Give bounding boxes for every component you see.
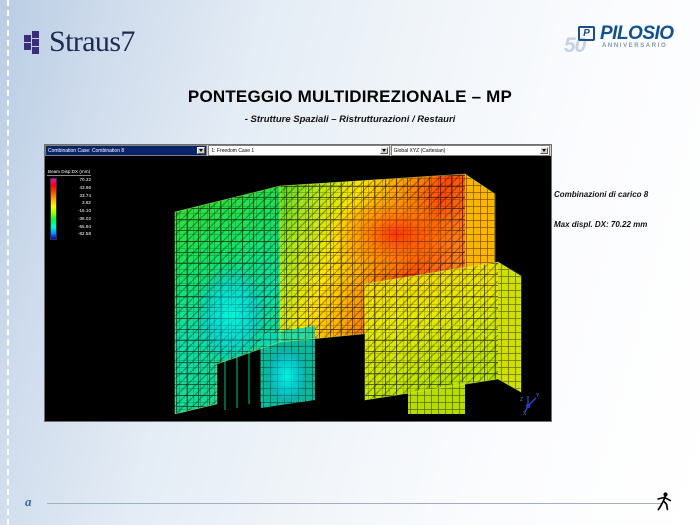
legend-value: -36.02: [59, 215, 93, 223]
svg-text:Z: Z: [520, 397, 523, 403]
pilosio-wordmark: PILOSIO: [600, 24, 674, 43]
page-subtitle: - Strutture Spaziali – Ristrutturazioni …: [0, 114, 700, 125]
straus7-blocks-icon: [24, 31, 46, 53]
legend-value: 70.22: [59, 176, 93, 184]
contour-colorbar: [50, 178, 57, 240]
axis-system-dropdown[interactable]: Global XYZ (Cartesian): [391, 145, 550, 156]
contour-legend-values: 70.22 43.66 33.74 3.82 -16.10 -36.02 -55…: [59, 176, 93, 238]
load-case-value: Combination Case: Combination 8: [46, 148, 124, 154]
footer-logo-icon: a: [25, 495, 39, 509]
legend-value: 3.82: [59, 199, 93, 207]
model-viewport[interactable]: Beam Disp:DX (mm) 70.22 43.66 33.74 3.82…: [45, 156, 551, 421]
contour-legend-body: 70.22 43.66 33.74 3.82 -16.10 -36.02 -55…: [47, 178, 95, 240]
straus7-logo: Straus7: [24, 27, 135, 57]
legend-value: -82.58: [59, 230, 93, 238]
footer-person-icon: [652, 490, 674, 512]
legend-value: -55.94: [59, 223, 93, 231]
pilosio-anniversary-label: ANNIVERSARIO: [602, 43, 667, 49]
straus7-wordmark: Straus7: [49, 27, 135, 57]
legend-value: 43.66: [59, 184, 93, 192]
straus7-viewport-window: Combination Case: Combination 8 1: Freed…: [44, 144, 552, 422]
annotation-max-displacement: Max displ. DX: 70.22 mm: [554, 220, 647, 229]
contour-legend: Beam Disp:DX (mm) 70.22 43.66 33.74 3.82…: [47, 169, 95, 240]
freedom-case-dropdown[interactable]: 1: Freedom Case 1: [208, 145, 389, 156]
axis-system-value: Global XYZ (Cartesian): [392, 148, 446, 154]
svg-text:X: X: [523, 411, 527, 415]
footer-divider: [47, 503, 662, 504]
freedom-case-value: 1: Freedom Case 1: [209, 148, 254, 154]
chevron-down-icon[interactable]: [540, 147, 548, 154]
pilosio-mark-icon: P: [578, 26, 595, 41]
legend-value: -16.10: [59, 207, 93, 215]
page-title: PONTEGGIO MULTIDIREZIONALE – MP: [0, 87, 700, 107]
chevron-down-icon[interactable]: [380, 147, 388, 154]
chevron-down-icon[interactable]: [197, 147, 205, 154]
contour-legend-title: Beam Disp:DX (mm): [47, 169, 91, 176]
legend-value: 33.74: [59, 192, 93, 200]
scaffolding-mesh-model: [165, 164, 545, 414]
axis-triad-icon: Y Z X: [517, 391, 543, 415]
load-case-dropdown[interactable]: Combination Case: Combination 8: [45, 145, 207, 156]
straus7-toolbar: Combination Case: Combination 8 1: Freed…: [45, 145, 551, 156]
svg-text:Y: Y: [536, 393, 540, 399]
annotation-load-combination: Combinazioni di carico 8: [554, 190, 648, 199]
slide-left-rail: [7, 0, 9, 525]
pilosio-logo: 50 P PILOSIO ANNIVERSARIO: [558, 24, 678, 58]
